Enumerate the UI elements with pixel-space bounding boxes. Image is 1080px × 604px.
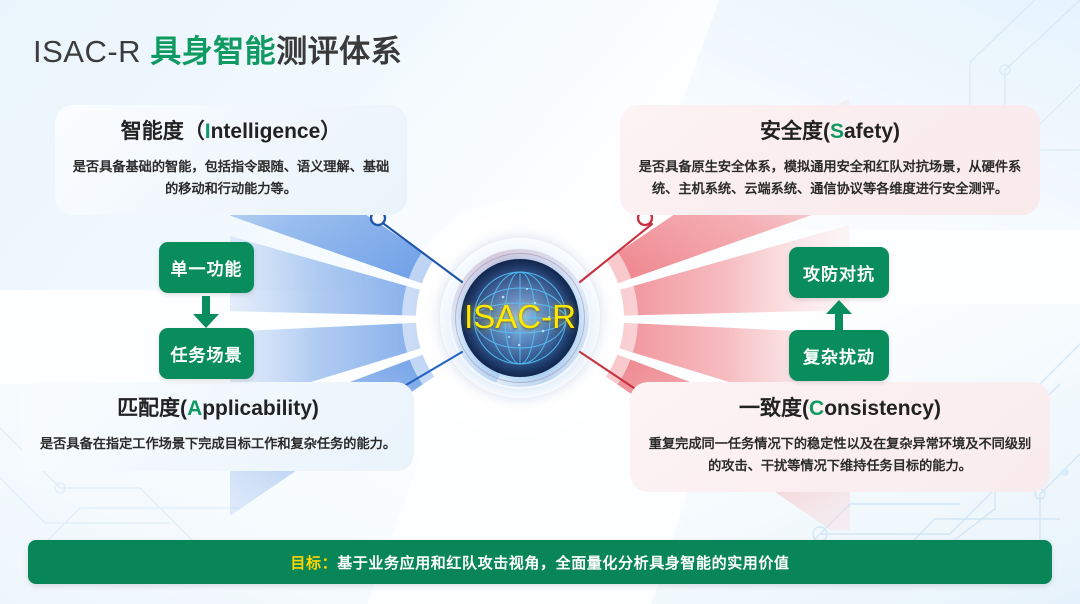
card-safety[interactable]: 安全度(Safety) 是否具备原生安全体系，模拟通用安全和红队对抗场景，从硬件… [620,105,1040,215]
card-desc-safety: 是否具备原生安全体系，模拟通用安全和红队对抗场景，从硬件系统、主机系统、云端系统… [636,156,1024,199]
card-desc-applicability: 是否具备在指定工作场景下完成目标工作和复杂任务的能力。 [38,433,398,454]
title-prefix: ISAC-R [33,34,150,69]
goal-banner-text: 目标：基于业务应用和红队攻击视角，全面量化分析具身智能的实用价值 [290,552,789,573]
card-title-safety: 安全度(Safety) [636,119,1024,145]
slide-canvas: ISAC-R 具身智能测评体系 [0,0,1080,604]
chip-complex-disturbance[interactable]: 复杂扰动 [789,330,889,381]
card-applicability[interactable]: 匹配度(Applicability) 是否具备在指定工作场景下完成目标工作和复杂… [22,382,414,471]
arrow-up-icon [825,299,853,332]
card-title-applicability: 匹配度(Applicability) [38,396,398,422]
title-highlight: 具身智能 [150,34,276,69]
goal-label: 目标： [290,555,337,572]
title-suffix: 测评体系 [276,34,402,69]
chip-task-scenario[interactable]: 任务场景 [159,328,254,379]
card-title-intelligence: 智能度（Intelligence） [71,119,391,145]
goal-text: 基于业务应用和红队攻击视角，全面量化分析具身智能的实用价值 [337,555,789,572]
chip-single-function[interactable]: 单一功能 [159,242,254,293]
card-intelligence[interactable]: 智能度（Intelligence） 是否具备基础的智能，包括指令跟随、语义理解、… [55,105,407,215]
goal-banner: 目标：基于业务应用和红队攻击视角，全面量化分析具身智能的实用价值 [28,540,1052,584]
center-globe: ISAC-R [440,238,600,398]
background-top-band [0,0,1080,14]
page-title: ISAC-R 具身智能测评体系 [33,36,402,67]
chip-attack-defense[interactable]: 攻防对抗 [789,247,889,298]
arrow-down-icon [192,296,220,329]
center-label: ISAC-R [440,298,600,336]
card-desc-intelligence: 是否具备基础的智能，包括指令跟随、语义理解、基础的移动和行动能力等。 [71,156,391,199]
card-consistency[interactable]: 一致度(Consistency) 重复完成同一任务情况下的稳定性以及在复杂异常环… [630,382,1050,492]
card-desc-consistency: 重复完成同一任务情况下的稳定性以及在复杂异常环境及不同级别的攻击、干扰等情况下维… [646,433,1034,476]
card-title-consistency: 一致度(Consistency) [646,396,1034,422]
